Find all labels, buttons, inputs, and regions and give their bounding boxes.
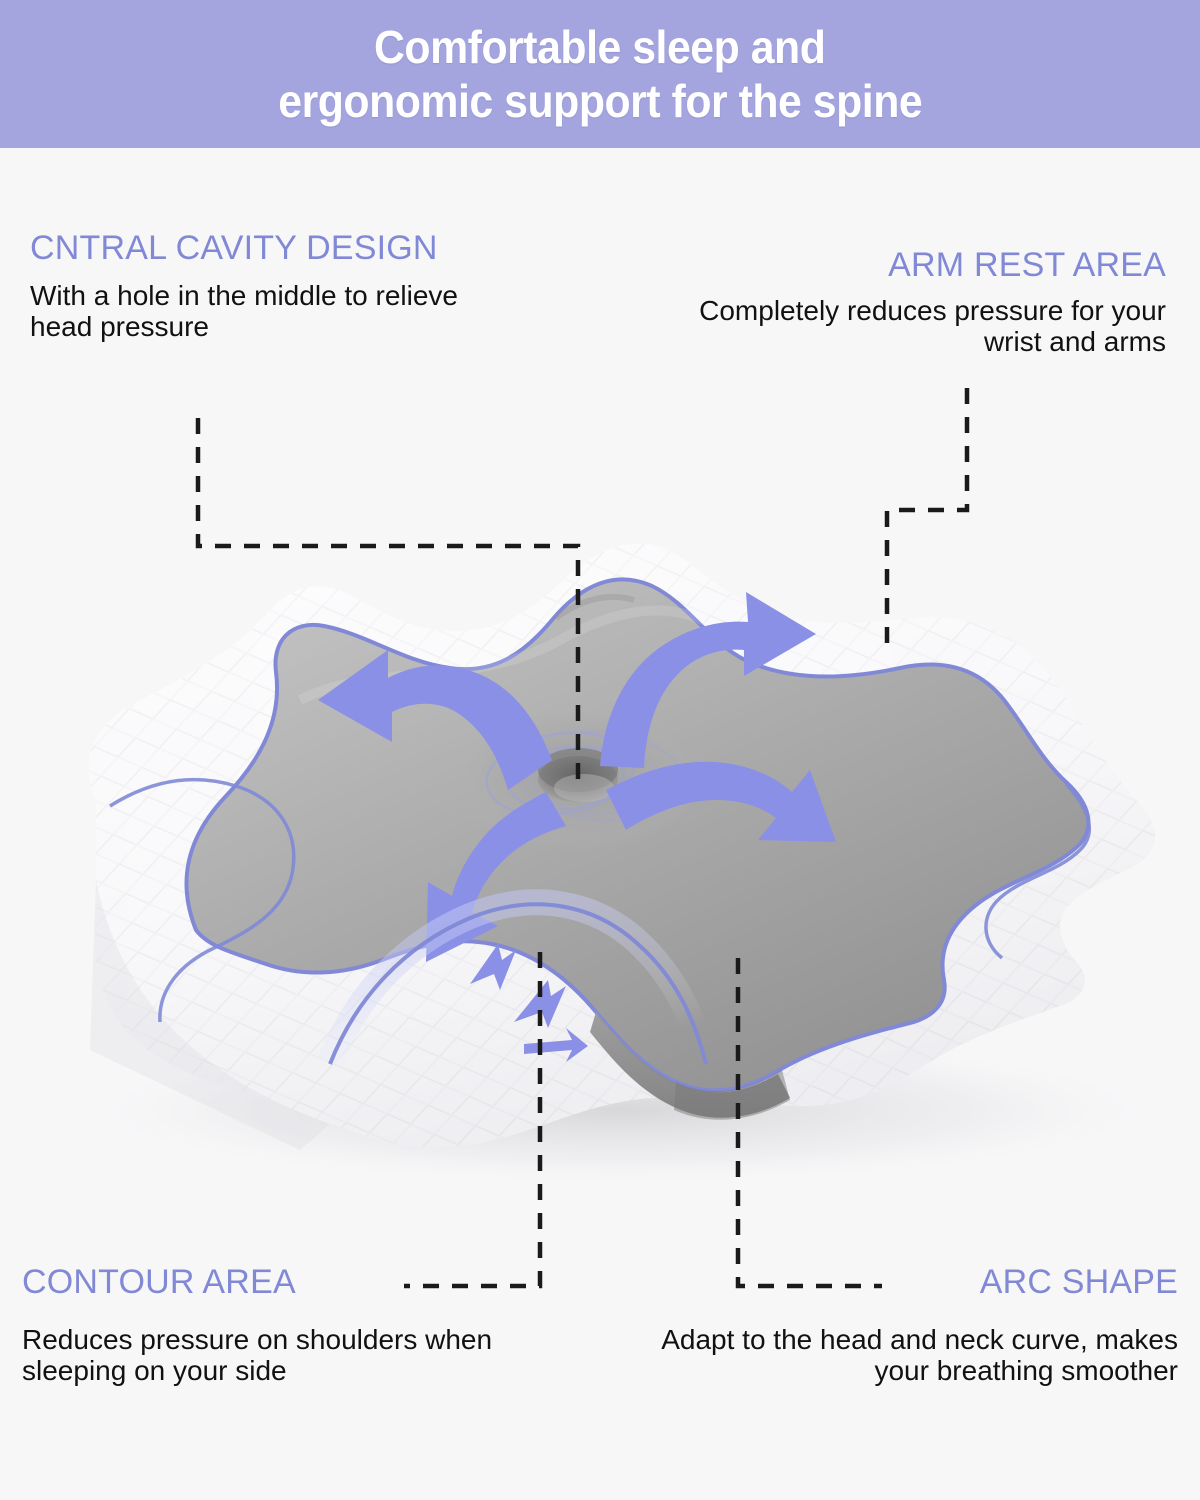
callout-arc-shape-title: ARC SHAPE <box>618 1262 1178 1302</box>
callout-contour-area: CONTOUR AREA Reduces pressure on shoulde… <box>22 1262 552 1386</box>
callout-contour-area-description: Reduces pressure on shoulders when sleep… <box>22 1324 552 1386</box>
callout-arc-shape-description: Adapt to the head and neck curve, makes … <box>618 1324 1178 1386</box>
callout-contour-area-title-row: CONTOUR AREA <box>22 1262 552 1302</box>
callout-central-cavity-title: CNTRAL CAVITY DESIGN <box>30 228 460 268</box>
callout-central-cavity-description: With a hole in the middle to relieve hea… <box>30 280 460 342</box>
callout-arm-rest: ARM REST AREA Completely reduces pressur… <box>646 245 1166 357</box>
callout-arc-shape: ARC SHAPE Adapt to the head and neck cur… <box>618 1262 1178 1386</box>
callout-central-cavity: CNTRAL CAVITY DESIGN With a hole in the … <box>30 228 460 342</box>
callout-arm-rest-description: Completely reduces pressure for your wri… <box>646 295 1166 357</box>
callout-arm-rest-title: ARM REST AREA <box>646 245 1166 285</box>
callout-contour-area-title: CONTOUR AREA <box>22 1262 296 1302</box>
